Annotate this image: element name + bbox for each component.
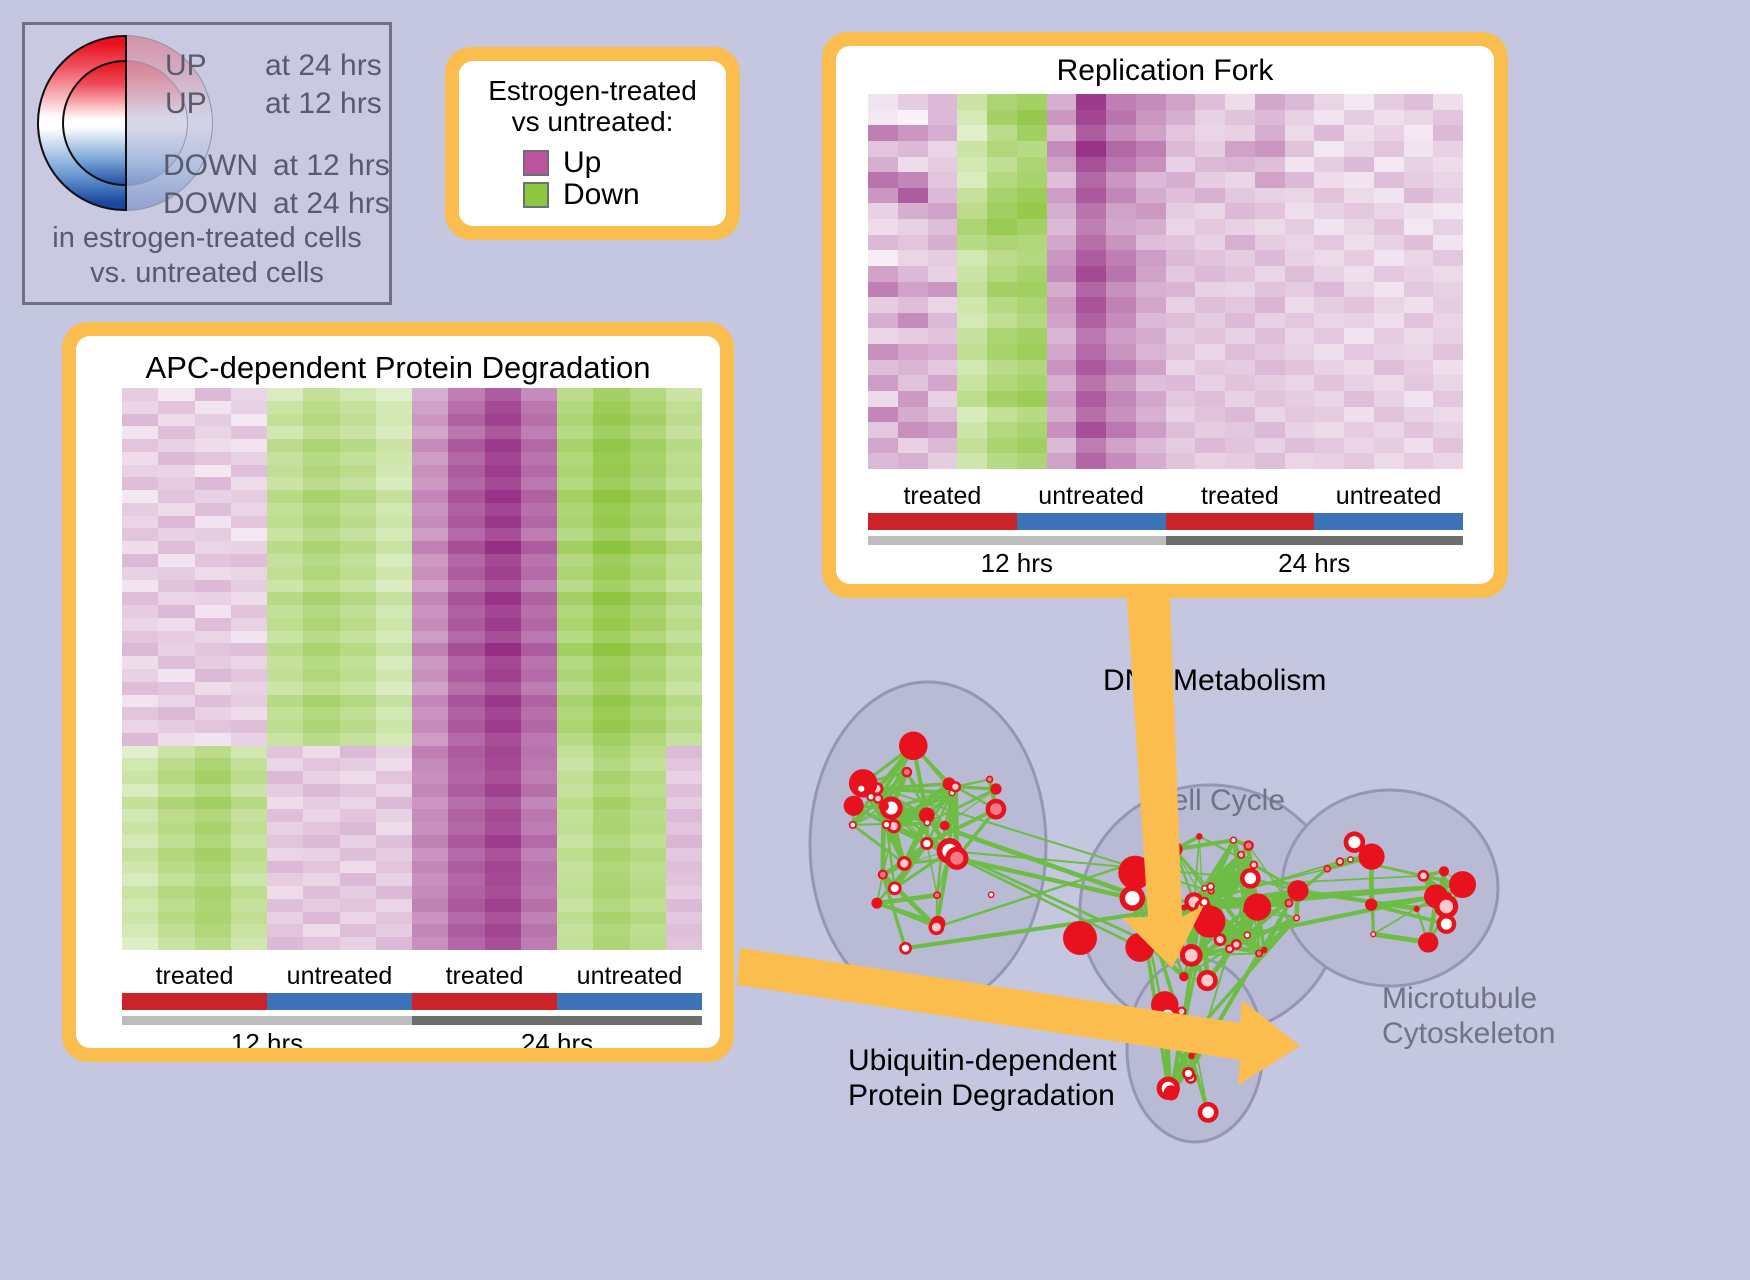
heat-cell — [593, 886, 629, 899]
heat-cell — [1017, 219, 1047, 235]
heat-cell — [340, 465, 376, 478]
heat-cell — [340, 797, 376, 810]
heat-cell — [1076, 219, 1106, 235]
heat-cell — [557, 541, 593, 554]
heat-cell — [158, 401, 194, 414]
heat-cell — [593, 605, 629, 618]
heat-cell — [485, 618, 521, 631]
heat-cell — [957, 141, 987, 157]
heat-cell — [122, 669, 158, 682]
group-color-bar — [412, 993, 557, 1010]
heat-cell — [1433, 235, 1463, 251]
network-node[interactable] — [1370, 931, 1376, 937]
network-node[interactable] — [1157, 929, 1185, 957]
heat-cell — [303, 643, 339, 656]
heat-cell — [630, 669, 666, 682]
heat-cell — [1166, 235, 1196, 251]
apc-group-bar — [122, 993, 702, 1010]
heat-cell — [340, 784, 376, 797]
network-node[interactable] — [1196, 833, 1203, 840]
heat-cell — [267, 426, 303, 439]
heat-cell — [928, 110, 958, 126]
network-node[interactable] — [1182, 1067, 1195, 1080]
cluster-label-microtubule-cytoskeleton: Microtubule Cytoskeleton — [1382, 982, 1555, 1051]
network-node[interactable] — [1414, 906, 1420, 912]
heat-cell — [340, 809, 376, 822]
heat-cell — [231, 733, 267, 746]
network-node[interactable] — [1164, 1085, 1179, 1100]
network-node[interactable] — [1323, 865, 1331, 873]
network-node[interactable] — [1347, 856, 1354, 863]
heat-cell — [1285, 407, 1315, 423]
network-node[interactable] — [1206, 1034, 1213, 1041]
heat-cell — [231, 822, 267, 835]
network-node[interactable] — [1358, 844, 1384, 870]
heat-cell — [521, 886, 557, 899]
heat-cell — [666, 490, 702, 503]
network-node[interactable] — [1243, 840, 1254, 851]
apc-time-bar — [122, 1016, 702, 1025]
heat-cell — [231, 503, 267, 516]
heat-cell — [1225, 203, 1255, 219]
heat-cell — [1106, 157, 1136, 173]
heat-cell — [666, 771, 702, 784]
heat-cell — [485, 809, 521, 822]
heat-cell — [122, 848, 158, 861]
heat-cell — [1166, 391, 1196, 407]
heat-cell — [630, 477, 666, 490]
heat-cell — [340, 656, 376, 669]
network-node[interactable] — [1125, 933, 1154, 962]
heat-cell — [376, 707, 412, 720]
network-node[interactable] — [871, 898, 882, 909]
heat-cell — [412, 528, 448, 541]
heat-cell — [485, 592, 521, 605]
heat-cell — [303, 452, 339, 465]
heat-cell — [928, 375, 958, 391]
network-node[interactable] — [1186, 1037, 1204, 1055]
network-node[interactable] — [878, 870, 888, 880]
network-node[interactable] — [1197, 970, 1218, 991]
network-node[interactable] — [1449, 871, 1476, 898]
heat-cell — [1285, 438, 1315, 454]
heat-cell — [630, 618, 666, 631]
heat-cell — [593, 528, 629, 541]
network-node[interactable] — [1165, 1036, 1171, 1042]
heat-cell — [303, 809, 339, 822]
network-node[interactable] — [945, 847, 968, 870]
apc-group-labels: treateduntreatedtreateduntreated — [122, 962, 702, 991]
heat-cell — [987, 407, 1017, 423]
network-node[interactable] — [950, 781, 961, 792]
heat-cell — [1017, 250, 1047, 266]
heat-cell — [231, 707, 267, 720]
heat-cell — [485, 541, 521, 554]
heat-cell — [521, 401, 557, 414]
heat-cell — [448, 490, 484, 503]
heat-cell — [1047, 235, 1077, 251]
network-node[interactable] — [849, 821, 857, 829]
heat-cell — [1166, 297, 1196, 313]
network-node[interactable] — [1287, 880, 1308, 901]
heat-cell — [376, 937, 412, 950]
network-node[interactable] — [1237, 851, 1245, 859]
heat-cell — [1017, 141, 1047, 157]
heat-cell — [303, 669, 339, 682]
heat-cell — [412, 592, 448, 605]
heat-cell — [1344, 453, 1374, 469]
heat-cell — [1047, 453, 1077, 469]
heat-cell — [303, 414, 339, 427]
heat-cell — [1374, 375, 1404, 391]
network-node[interactable] — [1231, 939, 1242, 950]
heat-cell — [1285, 219, 1315, 235]
heat-cell — [1374, 282, 1404, 298]
heat-cell — [1314, 438, 1344, 454]
heat-cell — [1047, 344, 1077, 360]
heat-cell — [987, 125, 1017, 141]
heat-cell — [1136, 453, 1166, 469]
heat-cell — [1374, 360, 1404, 376]
heat-cell — [557, 414, 593, 427]
heat-cell — [928, 94, 958, 110]
heat-cell — [521, 631, 557, 644]
heat-cell — [593, 465, 629, 478]
heat-cell — [340, 541, 376, 554]
heat-cell — [340, 771, 376, 784]
network-node[interactable] — [933, 891, 941, 899]
heat-cell — [898, 282, 928, 298]
heat-cell — [122, 643, 158, 656]
network-node[interactable] — [986, 799, 1007, 820]
network-node[interactable] — [1168, 842, 1183, 857]
heat-cell — [231, 426, 267, 439]
heat-cell — [376, 414, 412, 427]
heat-cell — [485, 861, 521, 874]
heat-cell — [666, 695, 702, 708]
heat-cell — [1404, 157, 1434, 173]
heat-cell — [630, 465, 666, 478]
heat-cell — [630, 822, 666, 835]
heat-cell — [267, 899, 303, 912]
heat-cell — [303, 490, 339, 503]
network-node[interactable] — [1063, 921, 1097, 955]
heat-cell — [376, 528, 412, 541]
heat-cell — [303, 554, 339, 567]
heat-cell — [1255, 282, 1285, 298]
heat-cell — [195, 822, 231, 835]
group-label: treated — [122, 962, 267, 991]
heat-cell — [231, 439, 267, 452]
heat-cell — [868, 360, 898, 376]
heat-cell — [898, 172, 928, 188]
heat-cell — [1404, 94, 1434, 110]
heat-cell — [557, 401, 593, 414]
heat-cell — [1255, 328, 1285, 344]
network-node[interactable] — [1365, 898, 1377, 910]
heat-cell — [1195, 266, 1225, 282]
heat-cell — [666, 439, 702, 452]
heat-cell — [158, 822, 194, 835]
heat-cell — [1314, 422, 1344, 438]
heat-cell — [485, 388, 521, 401]
heat-cell — [1195, 328, 1225, 344]
heat-cell — [1106, 266, 1136, 282]
heat-cell — [1047, 328, 1077, 344]
heat-cell — [521, 439, 557, 452]
heat-cell — [1195, 203, 1225, 219]
network-node[interactable] — [1293, 914, 1300, 921]
heat-cell — [195, 541, 231, 554]
network-node[interactable] — [899, 942, 912, 955]
network-node[interactable] — [902, 767, 913, 778]
heat-cell — [158, 516, 194, 529]
heat-cell — [1374, 141, 1404, 157]
network-node[interactable] — [1118, 856, 1152, 890]
heat-cell — [1374, 219, 1404, 235]
heat-cell — [195, 758, 231, 771]
network-node[interactable] — [1243, 931, 1251, 939]
heat-cell — [1344, 391, 1374, 407]
heat-cell — [1404, 235, 1434, 251]
heat-cell — [231, 477, 267, 490]
heat-cell — [557, 758, 593, 771]
heat-cell — [593, 656, 629, 669]
network-node[interactable] — [1261, 947, 1268, 954]
heat-cell — [1195, 422, 1225, 438]
heat-cell — [593, 669, 629, 682]
network-node[interactable] — [897, 856, 912, 871]
group-label: untreated — [267, 962, 412, 991]
network-node[interactable] — [1157, 1005, 1178, 1026]
network-node[interactable] — [856, 783, 867, 794]
network-node[interactable] — [923, 819, 931, 827]
heat-cell — [868, 344, 898, 360]
network-node[interactable] — [1244, 893, 1271, 920]
heat-cell — [448, 528, 484, 541]
heat-cell — [448, 516, 484, 529]
heat-cell — [267, 707, 303, 720]
group-color-bar — [557, 993, 702, 1010]
heat-cell — [868, 407, 898, 423]
network-node[interactable] — [1214, 933, 1227, 946]
heat-cell — [1433, 313, 1463, 329]
heat-cell — [412, 541, 448, 554]
heat-cell — [376, 797, 412, 810]
network-node[interactable] — [1207, 882, 1215, 890]
network-node[interactable] — [888, 881, 902, 895]
heat-cell — [666, 899, 702, 912]
heat-cell — [557, 822, 593, 835]
heat-cell — [1374, 203, 1404, 219]
heat-cell — [557, 861, 593, 874]
network-node[interactable] — [1181, 905, 1187, 911]
heat-cell — [630, 401, 666, 414]
network-node[interactable] — [1120, 885, 1146, 911]
heat-cell — [195, 554, 231, 567]
heat-cell — [1017, 375, 1047, 391]
group-label: untreated — [1017, 482, 1166, 511]
heat-cell — [957, 172, 987, 188]
heat-cell — [195, 797, 231, 810]
heat-cell — [158, 541, 194, 554]
heat-cell — [195, 567, 231, 580]
apc-footer: treateduntreatedtreateduntreated 12 hrs2… — [122, 962, 702, 1048]
cluster-label-ubiquitin-line2: Protein Degradation — [848, 1079, 1117, 1114]
heat-cell — [158, 733, 194, 746]
heat-cell — [1166, 157, 1196, 173]
network-node[interactable] — [1188, 1053, 1195, 1060]
network-node[interactable] — [866, 792, 875, 801]
network-node[interactable] — [1250, 861, 1259, 870]
heat-cell — [412, 669, 448, 682]
heat-cell — [231, 912, 267, 925]
network-node[interactable] — [990, 783, 1001, 794]
color-key-footnote-line2: vs. untreated cells — [25, 256, 389, 291]
heat-cell — [521, 733, 557, 746]
heat-cell — [666, 388, 702, 401]
heat-cell — [303, 592, 339, 605]
network-node[interactable] — [1336, 857, 1345, 866]
heat-cell — [1017, 297, 1047, 313]
network-node[interactable] — [1193, 905, 1225, 937]
heat-cell — [1285, 375, 1315, 391]
heat-cell — [485, 643, 521, 656]
heat-cell — [448, 643, 484, 656]
heat-cell — [987, 360, 1017, 376]
heat-cell — [557, 503, 593, 516]
heat-cell — [666, 797, 702, 810]
network-node[interactable] — [882, 820, 892, 830]
heat-cell — [158, 720, 194, 733]
heat-cell — [1404, 453, 1434, 469]
network-node[interactable] — [1230, 837, 1237, 844]
network-node[interactable] — [1284, 899, 1293, 908]
heat-cell — [122, 771, 158, 784]
heat-cell — [557, 477, 593, 490]
heat-cell — [593, 912, 629, 925]
heat-cell — [1076, 422, 1106, 438]
heat-cell — [231, 516, 267, 529]
heat-cell — [957, 235, 987, 251]
legend-item-up: Up — [523, 148, 710, 178]
heat-cell — [1166, 282, 1196, 298]
heat-cell — [1047, 94, 1077, 110]
network-node[interactable] — [899, 732, 928, 761]
network-node[interactable] — [1439, 866, 1449, 876]
heat-cell — [1344, 250, 1374, 266]
heat-cell — [231, 809, 267, 822]
heat-cell — [376, 465, 412, 478]
network-node[interactable] — [920, 837, 933, 850]
heat-cell — [1017, 391, 1047, 407]
heat-cell — [1136, 188, 1166, 204]
network-node[interactable] — [928, 919, 944, 935]
heat-cell — [267, 605, 303, 618]
heat-cell — [485, 899, 521, 912]
heat-cell — [898, 141, 928, 157]
heat-cell — [1404, 297, 1434, 313]
heat-cell — [521, 797, 557, 810]
network-node[interactable] — [1240, 868, 1261, 889]
heat-cell — [1195, 453, 1225, 469]
heat-cell — [303, 528, 339, 541]
heat-cell — [122, 822, 158, 835]
heat-cell — [1136, 110, 1166, 126]
heat-cell — [1195, 219, 1225, 235]
heat-cell — [376, 848, 412, 861]
heat-cell — [340, 605, 376, 618]
heat-cell — [1017, 172, 1047, 188]
heat-cell — [957, 391, 987, 407]
heat-cell — [376, 695, 412, 708]
heat-cell — [485, 835, 521, 848]
heat-cell — [267, 477, 303, 490]
network-node[interactable] — [1418, 932, 1438, 952]
network-node[interactable] — [986, 776, 993, 783]
heat-cell — [267, 784, 303, 797]
heat-cell — [231, 695, 267, 708]
heat-cell — [1433, 422, 1463, 438]
heat-cell — [158, 835, 194, 848]
heat-cell — [340, 426, 376, 439]
network-node[interactable] — [1198, 1102, 1219, 1123]
heat-cell — [521, 758, 557, 771]
heat-cell — [412, 567, 448, 580]
heat-cell — [1225, 266, 1255, 282]
heat-cell — [448, 848, 484, 861]
group-color-bar — [267, 993, 412, 1010]
heat-cell — [1195, 157, 1225, 173]
heat-cell — [521, 707, 557, 720]
heat-cell — [485, 414, 521, 427]
network-node[interactable] — [1444, 892, 1452, 900]
heat-cell — [1433, 110, 1463, 126]
network-node[interactable] — [988, 891, 995, 898]
heat-cell — [485, 784, 521, 797]
heat-cell — [485, 503, 521, 516]
heat-cell — [303, 503, 339, 516]
heat-cell — [1047, 282, 1077, 298]
heat-cell — [557, 592, 593, 605]
network-node[interactable] — [940, 821, 950, 831]
legend-label-up: Up — [563, 148, 601, 178]
heat-cell — [898, 313, 928, 329]
heat-cell — [898, 266, 928, 282]
heat-cell — [303, 771, 339, 784]
heat-cell — [448, 452, 484, 465]
heat-cell — [666, 631, 702, 644]
heat-cell — [1225, 282, 1255, 298]
network-node[interactable] — [1179, 972, 1188, 981]
color-key-footnote-line1: in estrogen-treated cells — [25, 221, 389, 256]
heat-cell — [630, 388, 666, 401]
network-node[interactable] — [844, 796, 864, 816]
heat-cell — [1076, 328, 1106, 344]
heat-cell — [267, 873, 303, 886]
time-label: 12 hrs — [868, 548, 1166, 579]
network-node[interactable] — [1189, 1021, 1198, 1030]
heat-cell — [412, 809, 448, 822]
heat-cell — [485, 631, 521, 644]
heat-cell — [1076, 266, 1106, 282]
heat-cell — [1404, 422, 1434, 438]
network-node[interactable] — [1417, 870, 1429, 882]
heat-cell — [412, 733, 448, 746]
heat-cell — [195, 516, 231, 529]
heat-cell — [158, 707, 194, 720]
heat-cell — [303, 465, 339, 478]
